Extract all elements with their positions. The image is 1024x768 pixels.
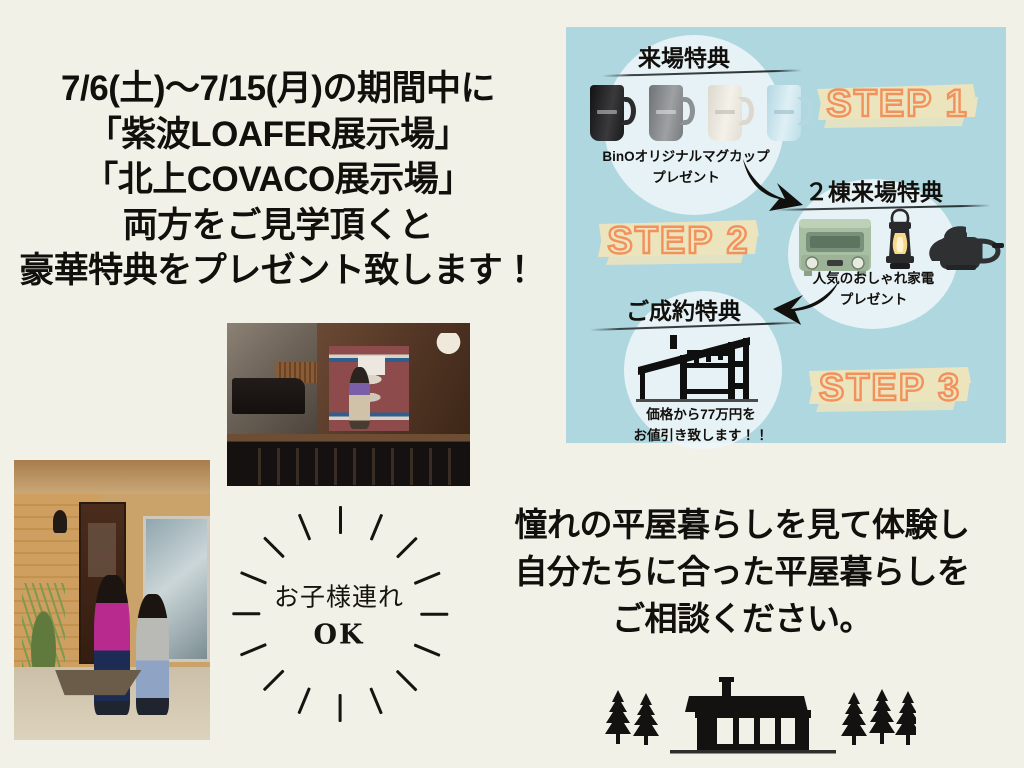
sunburst-ray — [263, 537, 285, 559]
sunburst-ray — [263, 670, 285, 692]
mug-gray-logo — [656, 110, 675, 114]
mug-lightblue — [767, 85, 813, 141]
toaster-oven-icon — [797, 215, 873, 277]
mug-black — [590, 85, 636, 141]
exterior-younger-child-figure — [136, 594, 169, 714]
discount-house-icon — [632, 333, 764, 405]
exterior-two-children-photo — [14, 460, 210, 740]
exterior-eave — [14, 460, 210, 494]
sunburst-ray — [396, 537, 418, 559]
tree-icon — [841, 692, 867, 745]
lead-text-line-2: 自分たちに合った平屋暮らしを — [466, 549, 1018, 596]
exterior-potted-plant — [22, 583, 65, 667]
lead-text-block: 憧れの平屋暮らしを見て体験し 自分たちに合った平屋暮らしを ご相談ください。 — [466, 502, 1018, 643]
mug-cream — [708, 85, 754, 141]
step2-title: ２棟来場特典 — [805, 173, 943, 207]
step3-title: ご成約特典 — [626, 292, 741, 326]
interior-child-figure — [349, 367, 371, 429]
arrow-step1-to-step2-icon — [739, 155, 811, 215]
step-badge-1-label: STEP 1 — [815, 75, 980, 133]
sunburst-ray — [370, 514, 383, 541]
step-badge-2: STEP 2 — [596, 212, 761, 270]
sunburst-ray — [339, 506, 342, 534]
tree-icon — [869, 689, 895, 744]
sunburst-ray — [339, 694, 342, 722]
step-badge-3-label: STEP 3 — [806, 359, 974, 417]
step-badge-2-label: STEP 2 — [596, 212, 761, 270]
step3-caption: 価格から77万円を お値引き致します！！ — [606, 405, 796, 447]
kids-welcome-ok-label: OK — [228, 620, 450, 651]
mug-lightblue-handle — [797, 97, 813, 125]
mug-gray-handle — [679, 97, 695, 125]
mug-cream-logo — [715, 110, 734, 114]
lead-text-line-3: ご相談ください。 — [466, 596, 1018, 643]
step1-title: 来場特典 — [638, 39, 730, 73]
interior-pendant-lamp — [434, 333, 463, 356]
exterior-wall-lamp-icon — [53, 510, 67, 532]
kids-welcome-sunburst: お子様連れ OK — [228, 503, 450, 725]
headline-line-1: 7/6(土)〜7/15(月)の期間中に — [0, 66, 556, 112]
mug-cream-handle — [738, 97, 754, 125]
house-and-trees-silhouette — [596, 668, 916, 760]
step-badge-1: STEP 1 — [815, 75, 980, 133]
step3-caption-line-1: 価格から77万円を — [646, 407, 756, 422]
sunburst-ray — [298, 687, 311, 714]
benefits-step-panel: 来場特典 BinOオリジナルマグカップ プレゼント — [566, 27, 1006, 443]
tree-icon — [605, 690, 631, 744]
step2-caption-line-2: プレゼント — [840, 292, 908, 307]
flat-roof-house-icon — [670, 677, 836, 754]
arrow-step2-to-step3-icon — [771, 275, 843, 329]
lead-text-line-1: 憧れの平屋暮らしを見て体験し — [466, 502, 1018, 549]
step1-caption-line-2: プレゼント — [652, 170, 720, 185]
interior-wooden-deck — [227, 434, 470, 486]
mug-black-logo — [597, 110, 616, 114]
kids-welcome-label: お子様連れ — [228, 578, 450, 614]
mug-gray — [649, 85, 695, 141]
interior-wood-stove — [232, 378, 305, 414]
step-badge-3: STEP 3 — [806, 359, 974, 417]
headline-line-2: 「紫波LOAFER展示場」 — [0, 112, 556, 158]
interior-child-on-rug-photo — [227, 323, 470, 486]
sunburst-text-block: お子様連れ OK — [228, 578, 450, 651]
tree-icon — [895, 691, 916, 745]
headline-block: 7/6(土)〜7/15(月)の期間中に 「紫波LOAFER展示場」 「北上COV… — [0, 66, 556, 294]
sunburst-ray — [370, 687, 383, 714]
headline-line-5: 豪華特典をプレゼント致します！ — [0, 248, 556, 294]
sunburst-ray — [298, 514, 311, 541]
mug-black-handle — [620, 97, 636, 125]
mug-lightblue-logo — [774, 110, 793, 114]
step3-caption-line-2: お値引き致します！！ — [634, 428, 769, 443]
sunburst-ray — [396, 670, 418, 692]
tree-icon — [633, 693, 659, 745]
headline-line-4: 両方をご見学頂くと — [0, 203, 556, 249]
headline-line-3: 「北上COVACO展示場」 — [0, 157, 556, 203]
poster-canvas: 7/6(土)〜7/15(月)の期間中に 「紫波LOAFER展示場」 「北上COV… — [0, 0, 1024, 768]
